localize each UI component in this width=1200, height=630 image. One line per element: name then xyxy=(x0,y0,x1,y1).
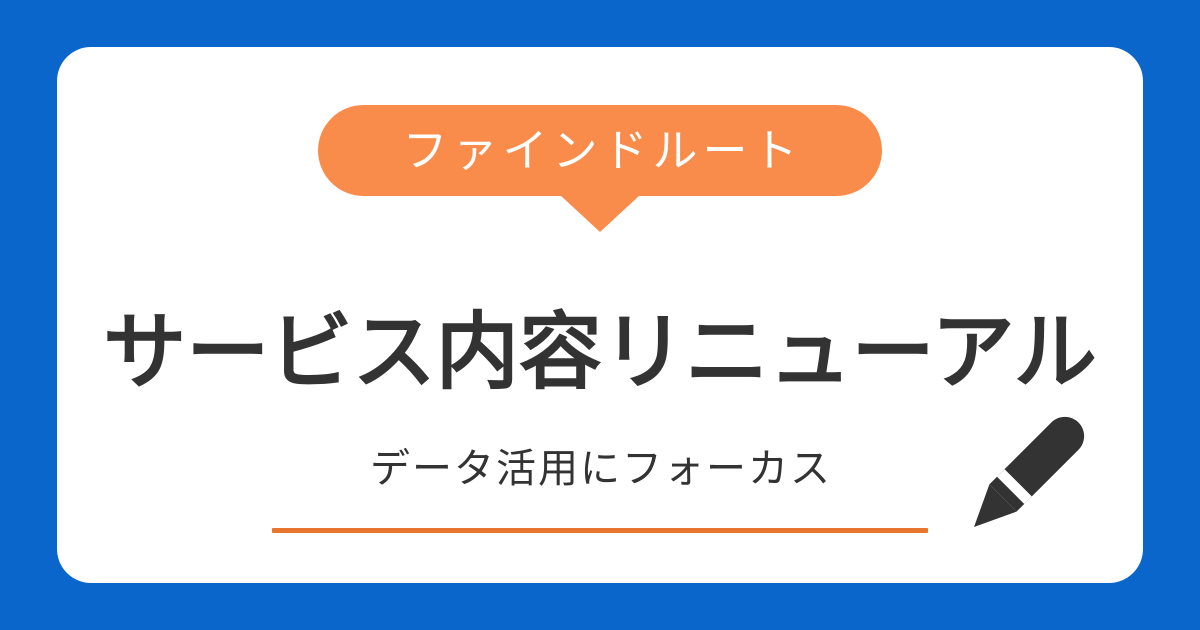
content-card: ファインドルート サービス内容リニューアル データ活用にフォーカス xyxy=(57,47,1143,583)
page-title: サービス内容リニューアル xyxy=(62,305,1137,399)
pen-icon xyxy=(960,405,1100,535)
title-underline xyxy=(272,528,928,533)
speech-bubble-tail-icon xyxy=(560,195,640,232)
brand-badge: ファインドルート xyxy=(318,105,882,196)
banner-root: ファインドルート サービス内容リニューアル データ活用にフォーカス xyxy=(0,0,1200,630)
badge-container: ファインドルート xyxy=(57,105,1143,232)
badge-label: ファインドルート xyxy=(397,128,802,173)
